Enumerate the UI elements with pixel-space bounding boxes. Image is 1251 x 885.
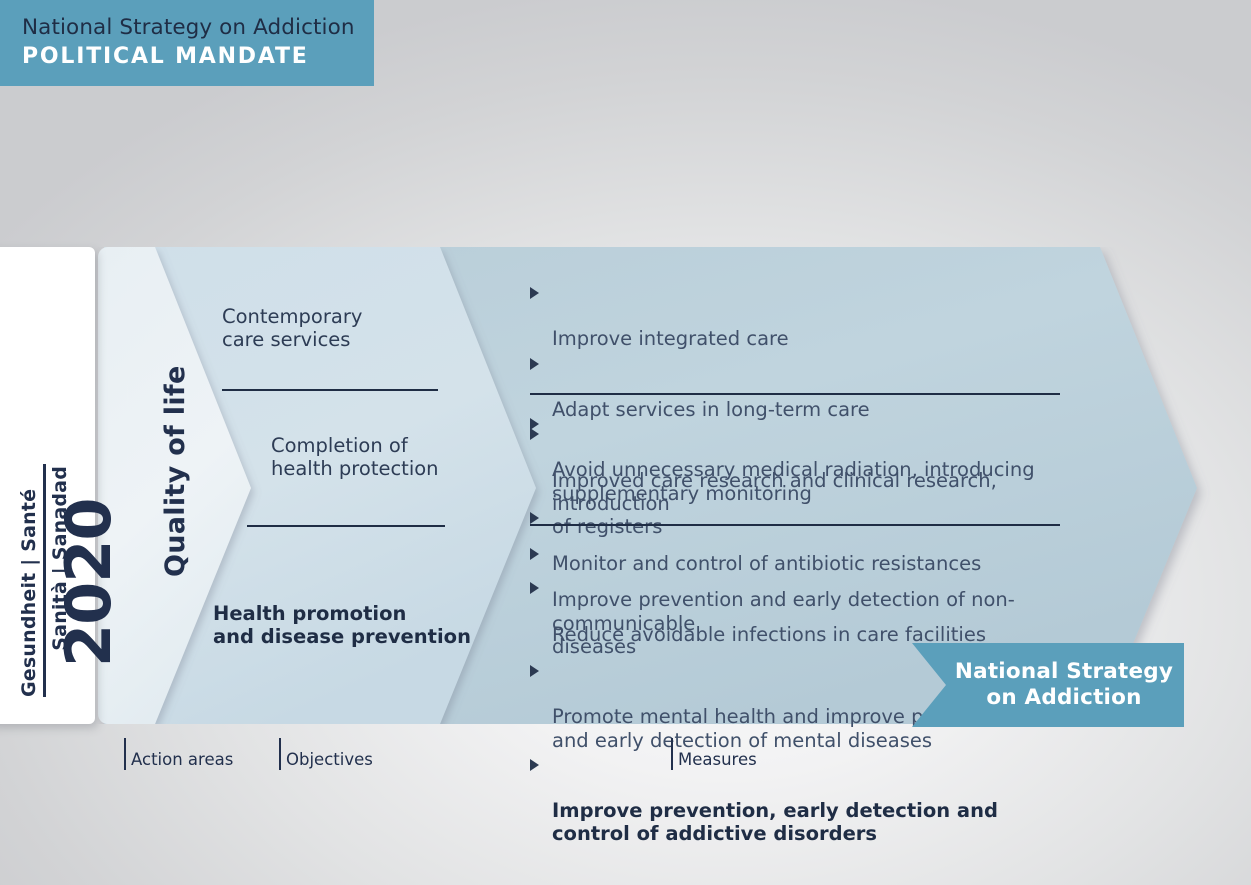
measure-text: Improve prevention, early detection and … (552, 799, 998, 845)
measure-item: Adapt services in long-term care (530, 352, 1060, 422)
triangle-bullet-icon (530, 418, 539, 430)
logo-wordmark-top: Gesundheit | Santé (18, 457, 42, 697)
objective-divider-1 (222, 389, 438, 391)
objective-completion-of-health-protection: Completion of health protection (271, 434, 439, 480)
axis-label: Objectives (286, 750, 373, 769)
measure-divider-1 (530, 393, 1060, 395)
objective-divider-2 (247, 525, 445, 527)
measure-text: Avoid unnecessary medical radiation, int… (552, 458, 1035, 504)
triangle-bullet-icon (530, 358, 539, 370)
axis-tick (671, 738, 673, 770)
objective-contemporary-care-services: Contemporary care services (222, 305, 362, 351)
axis-tick (124, 738, 126, 770)
callout-line-2: on Addiction (986, 685, 1141, 711)
axis-legend: Action areas Objectives Measures (0, 738, 1251, 778)
triangle-bullet-icon (530, 548, 539, 560)
logo-divider (43, 464, 46, 697)
logo-wordmark: Gesundheit | Santé Sanità | Sanadad (18, 457, 71, 697)
measure-item: Improve prevention and early detection o… (530, 542, 1060, 658)
objective-health-promotion-and-disease-prevention: Health promotion and disease prevention (213, 602, 471, 648)
triangle-bullet-icon (530, 512, 539, 524)
measure-text: Improve integrated care (552, 327, 789, 350)
header-title: National Strategy on Addiction (22, 16, 374, 41)
triangle-bullet-icon (530, 287, 539, 299)
axis-label: Action areas (131, 750, 233, 769)
callout-line-1: National Strategy (955, 659, 1173, 685)
measure-item: Avoid unnecessary medical radiation, int… (530, 412, 1060, 505)
header-subtitle: POLITICAL MANDATE (22, 43, 374, 71)
measure-item: Improve integrated care (530, 281, 1060, 351)
measure-divider-2 (530, 524, 1060, 526)
logo-wordmark-bottom: Sanità | Sanadad (48, 464, 71, 697)
header-banner: National Strategy on Addiction POLITICAL… (0, 0, 374, 86)
action-area-label: Quality of life (160, 365, 191, 577)
axis-label: Measures (678, 750, 757, 769)
logo-panel: 2020 Gesundheit | Santé Sanità | Sanadad (0, 247, 95, 724)
axis-tick (279, 738, 281, 770)
national-strategy-callout: National Strategy on Addiction (912, 643, 1184, 727)
triangle-bullet-icon (530, 665, 539, 677)
